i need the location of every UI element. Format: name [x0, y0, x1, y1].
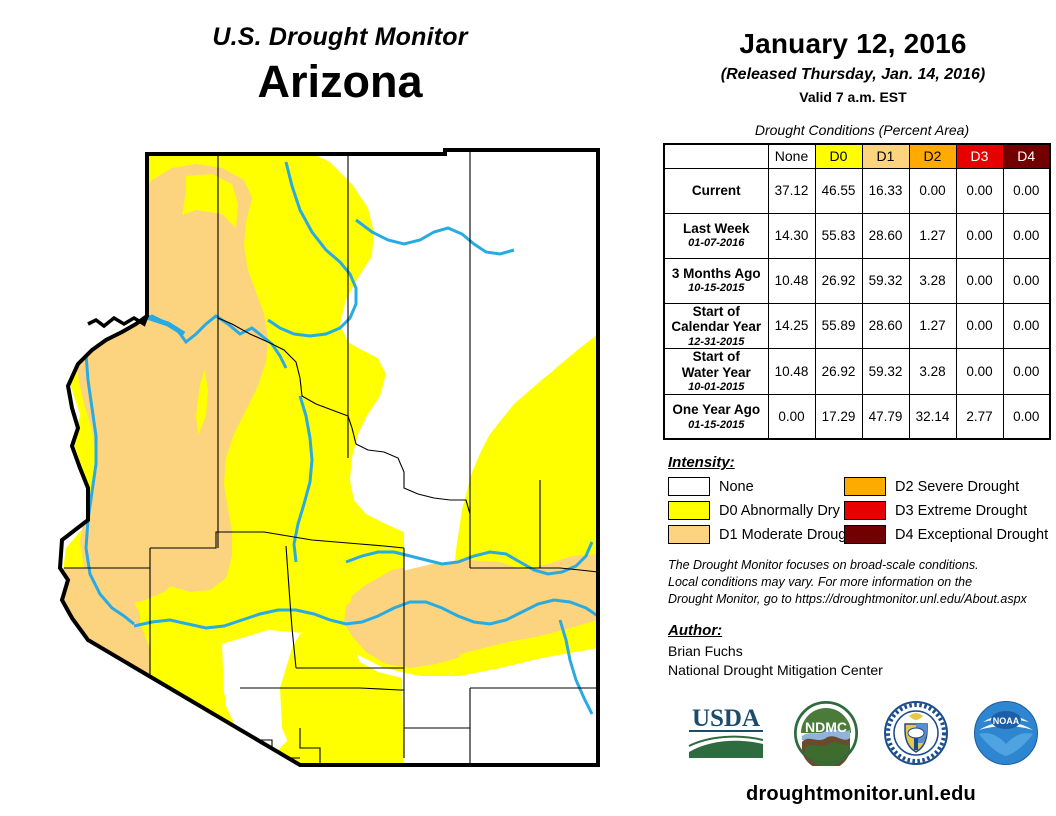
table-cell-d2: 0.00: [909, 168, 956, 213]
column-header-d1: D1: [862, 144, 909, 168]
table-cell-d4: 0.00: [1003, 303, 1050, 349]
row-label: One Year Ago01-15-2015: [664, 394, 768, 439]
site-url[interactable]: droughtmonitor.unl.edu: [650, 783, 1056, 806]
legend-title: Intensity:: [668, 454, 1040, 471]
table-cell-d2: 3.28: [909, 258, 956, 303]
table-cell-none: 10.48: [768, 258, 815, 303]
usda-wordmark: USDA: [692, 705, 760, 732]
table-cell-d4: 0.00: [1003, 349, 1050, 395]
date-block: January 12, 2016 (Released Thursday, Jan…: [650, 0, 1056, 105]
ndmc-logo[interactable]: NDMC: [793, 700, 859, 771]
usdc-seal[interactable]: [883, 700, 949, 771]
table-cell-d2: 1.27: [909, 213, 956, 258]
table-cell-d4: 0.00: [1003, 168, 1050, 213]
table-header-row: None D0 D1 D2 D3 D4: [664, 144, 1050, 168]
right-panel: January 12, 2016 (Released Thursday, Jan…: [650, 0, 1056, 816]
table-cell-d4: 0.00: [1003, 394, 1050, 439]
legend-label-d0: D0 Abnormally Dry: [719, 503, 840, 519]
table-cell-d4: 0.00: [1003, 258, 1050, 303]
noaa-wordmark: NOAA: [993, 716, 1020, 726]
valid-time: Valid 7 a.m. EST: [650, 89, 1056, 105]
table-cell-d3: 0.00: [956, 349, 1003, 395]
release-date: (Released Thursday, Jan. 14, 2016): [650, 66, 1056, 84]
usda-logo[interactable]: USDA: [683, 702, 769, 769]
disclaimer-note: The Drought Monitor focuses on broad-sca…: [668, 557, 1048, 608]
drought-monitor-page: U.S. Drought Monitor Arizona: [0, 0, 1056, 816]
legend-swatch-none: [668, 477, 710, 496]
column-header-d2: D2: [909, 144, 956, 168]
legend-swatch-d4: [844, 525, 886, 544]
table-caption: Drought Conditions (Percent Area): [668, 122, 1056, 138]
state-title: Arizona: [60, 56, 620, 108]
intensity-legend: Intensity: NoneD2 Severe DroughtD0 Abnor…: [668, 454, 1040, 544]
table-row: One Year Ago01-15-20150.0017.2947.7932.1…: [664, 394, 1050, 439]
legend-swatch-d0: [668, 501, 710, 520]
column-header-d0: D0: [815, 144, 862, 168]
table-cell-d3: 0.00: [956, 213, 1003, 258]
row-label-line: Water Year: [665, 365, 768, 381]
row-label: Last Week01-07-2016: [664, 213, 768, 258]
column-header-d4: D4: [1003, 144, 1050, 168]
row-label-line: Current: [665, 183, 768, 199]
column-header-none: None: [768, 144, 815, 168]
table-body: Current37.1246.5516.330.000.000.00Last W…: [664, 168, 1050, 439]
legend-label-d1: D1 Moderate Drought: [719, 527, 858, 543]
table-cell-none: 14.30: [768, 213, 815, 258]
program-title: U.S. Drought Monitor: [60, 24, 620, 52]
legend-label-d3: D3 Extreme Drought: [895, 503, 1027, 519]
legend-item-none: None: [668, 477, 844, 496]
table-row: 3 Months Ago10-15-201510.4826.9259.323.2…: [664, 258, 1050, 303]
row-label-date: 12-31-2015: [665, 336, 768, 349]
table-cell-d1: 28.60: [862, 213, 909, 258]
row-label-line: 3 Months Ago: [665, 266, 768, 282]
column-header-d3: D3: [956, 144, 1003, 168]
row-label: Start ofWater Year10-01-2015: [664, 349, 768, 395]
table-cell-d2: 32.14: [909, 394, 956, 439]
table-row: Current37.1246.5516.330.000.000.00: [664, 168, 1050, 213]
table-cell-none: 10.48: [768, 349, 815, 395]
table-cell-d0: 46.55: [815, 168, 862, 213]
table-cell-none: 14.25: [768, 303, 815, 349]
table-row: Start ofCalendar Year12-31-201514.2555.8…: [664, 303, 1050, 349]
legend-label-d2: D2 Severe Drought: [895, 479, 1019, 495]
table-cell-d1: 28.60: [862, 303, 909, 349]
row-label: Current: [664, 168, 768, 213]
legend-grid: NoneD2 Severe DroughtD0 Abnormally DryD3…: [668, 477, 1040, 544]
legend-label-d4: D4 Exceptional Drought: [895, 527, 1048, 543]
logo-row: USDA NDMC: [650, 700, 1056, 771]
author-organization: National Drought Mitigation Center: [668, 661, 1056, 680]
legend-swatch-d2: [844, 477, 886, 496]
legend-item-d3: D3 Extreme Drought: [844, 501, 1040, 520]
table-cell-d0: 55.89: [815, 303, 862, 349]
author-title: Author:: [668, 622, 1056, 639]
map-title-block: U.S. Drought Monitor Arizona: [60, 24, 620, 107]
author-name: Brian Fuchs: [668, 642, 1056, 661]
table-cell-d3: 0.00: [956, 303, 1003, 349]
report-date: January 12, 2016: [650, 28, 1056, 60]
row-label-line: One Year Ago: [665, 402, 768, 418]
table-cell-none: 37.12: [768, 168, 815, 213]
note-line-3: Drought Monitor, go to https://droughtmo…: [668, 591, 1048, 608]
table-cell-d1: 59.32: [862, 258, 909, 303]
legend-swatch-d1: [668, 525, 710, 544]
table-cell-d2: 1.27: [909, 303, 956, 349]
legend-label-none: None: [719, 479, 754, 495]
table-cell-d0: 55.83: [815, 213, 862, 258]
row-label-date: 10-01-2015: [665, 381, 768, 394]
table-cell-d1: 59.32: [862, 349, 909, 395]
table-corner-cell: [664, 144, 768, 168]
table-row: Start ofWater Year10-01-201510.4826.9259…: [664, 349, 1050, 395]
table-cell-d4: 0.00: [1003, 213, 1050, 258]
row-label-line: Last Week: [665, 221, 768, 237]
row-label-line: Start of: [665, 304, 768, 320]
table-cell-d3: 0.00: [956, 168, 1003, 213]
note-line-2: Local conditions may vary. For more info…: [668, 574, 1048, 591]
legend-swatch-d3: [844, 501, 886, 520]
row-label-date: 10-15-2015: [665, 282, 768, 295]
table-cell-d0: 17.29: [815, 394, 862, 439]
table-cell-d1: 16.33: [862, 168, 909, 213]
row-label-line: Calendar Year: [665, 319, 768, 335]
row-label-line: Start of: [665, 349, 768, 365]
row-label-date: 01-07-2016: [665, 237, 768, 250]
row-label: Start ofCalendar Year12-31-2015: [664, 303, 768, 349]
ndmc-wordmark: NDMC: [805, 719, 847, 735]
noaa-logo[interactable]: NOAA: [973, 700, 1039, 771]
drought-conditions-table: None D0 D1 D2 D3 D4 Current37.1246.5516.…: [663, 143, 1051, 440]
table-cell-d2: 3.28: [909, 349, 956, 395]
map-drought-regions: [0, 128, 650, 808]
table-cell-d0: 26.92: [815, 258, 862, 303]
row-label-date: 01-15-2015: [665, 419, 768, 432]
row-label: 3 Months Ago10-15-2015: [664, 258, 768, 303]
table-cell-d0: 26.92: [815, 349, 862, 395]
legend-item-d4: D4 Exceptional Drought: [844, 525, 1040, 544]
legend-item-d0: D0 Abnormally Dry: [668, 501, 844, 520]
note-line-1: The Drought Monitor focuses on broad-sca…: [668, 557, 1048, 574]
table-cell-d3: 2.77: [956, 394, 1003, 439]
author-block: Author: Brian Fuchs National Drought Mit…: [668, 622, 1056, 680]
table-cell-d1: 47.79: [862, 394, 909, 439]
table-cell-d3: 0.00: [956, 258, 1003, 303]
table-cell-none: 0.00: [768, 394, 815, 439]
table-row: Last Week01-07-201614.3055.8328.601.270.…: [664, 213, 1050, 258]
arizona-drought-map[interactable]: [0, 128, 650, 808]
legend-item-d2: D2 Severe Drought: [844, 477, 1040, 496]
legend-item-d1: D1 Moderate Drought: [668, 525, 844, 544]
